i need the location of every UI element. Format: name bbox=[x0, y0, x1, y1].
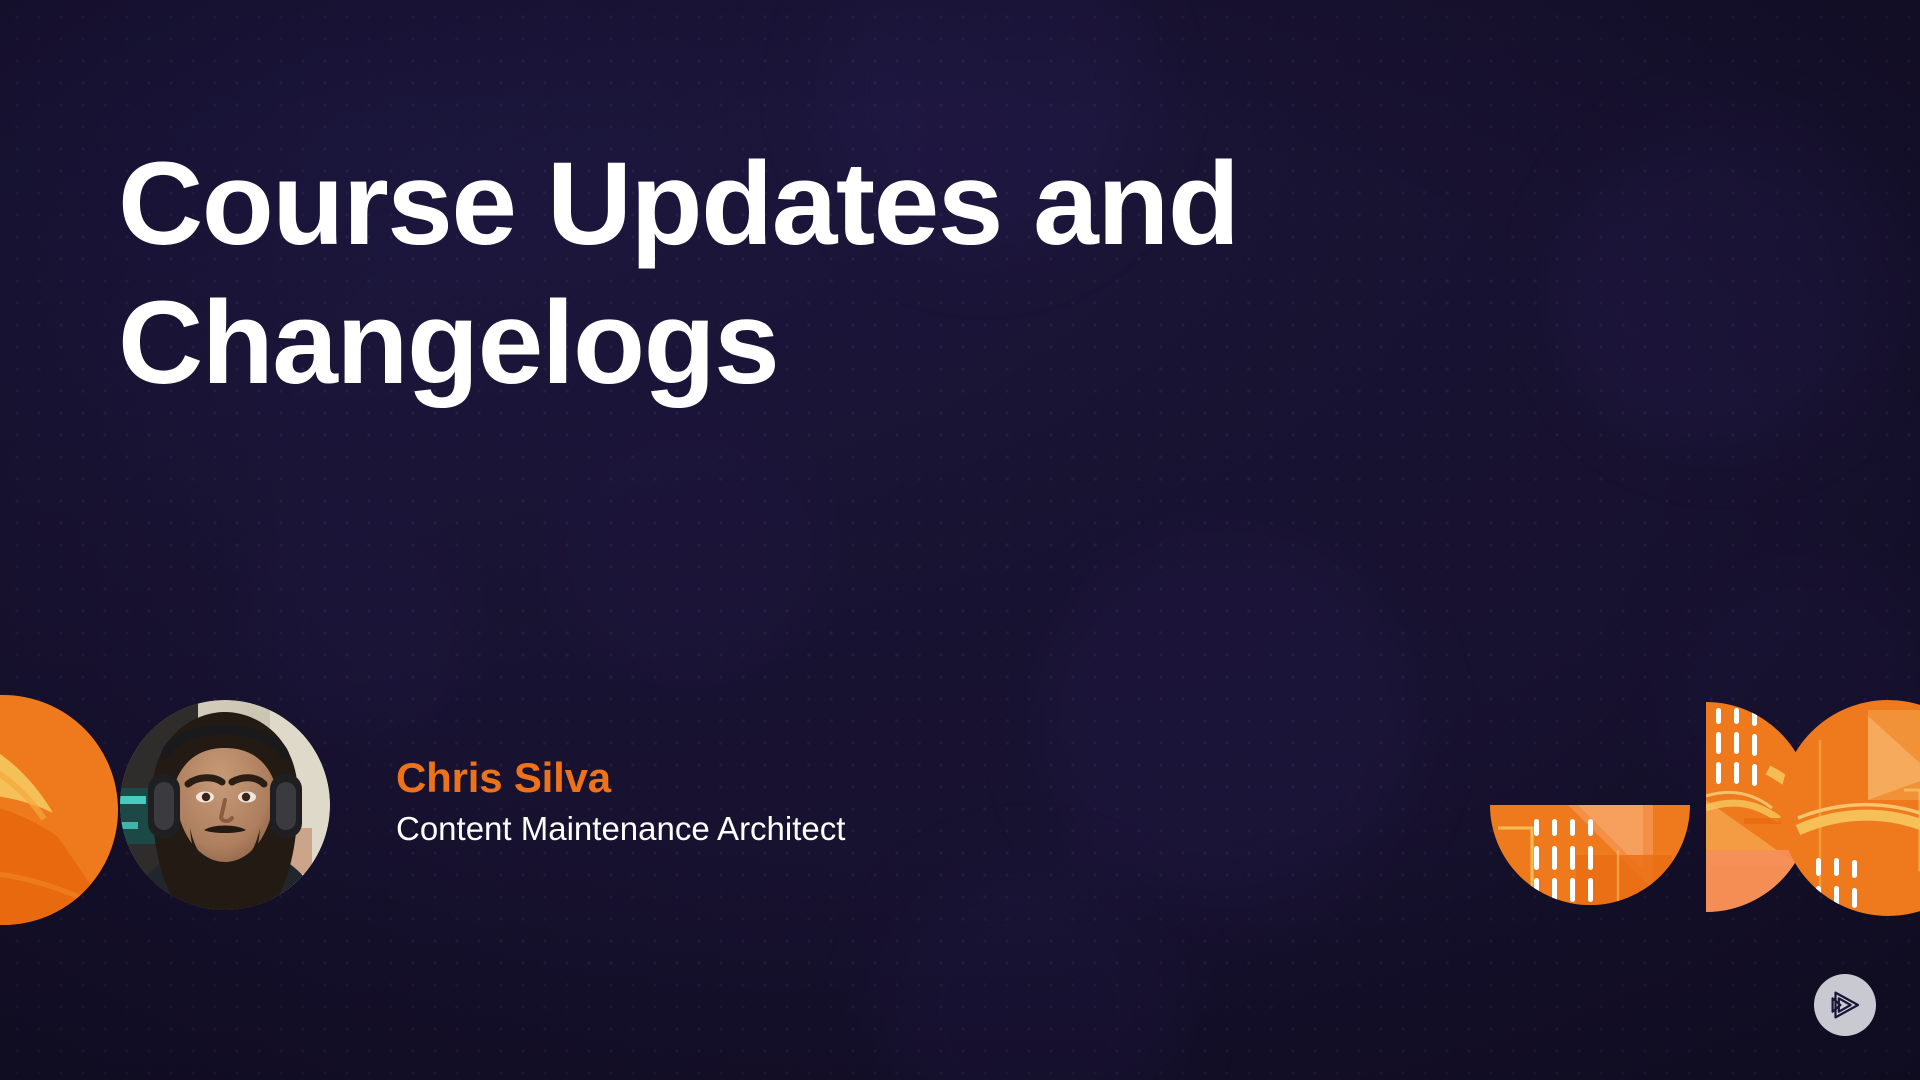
presenter-block: Chris Silva Content Maintenance Architec… bbox=[120, 700, 845, 910]
presenter-role: Content Maintenance Architect bbox=[396, 809, 845, 849]
pluralsight-play-logo-badge[interactable] bbox=[1814, 974, 1876, 1036]
presenter-text: Chris Silva Content Maintenance Architec… bbox=[396, 755, 845, 855]
page-title: Course Updates and Changelogs bbox=[118, 135, 1618, 413]
presentation-slide: Course Updates and Changelogs bbox=[0, 0, 1920, 1080]
avatar bbox=[120, 700, 330, 910]
pluralsight-play-logo-icon bbox=[1828, 988, 1862, 1022]
presenter-name: Chris Silva bbox=[396, 755, 845, 801]
title-block: Course Updates and Changelogs bbox=[118, 135, 1618, 413]
orange-circle-accent bbox=[0, 695, 118, 925]
orange-semicircle-accent-cluster bbox=[1468, 680, 1920, 930]
